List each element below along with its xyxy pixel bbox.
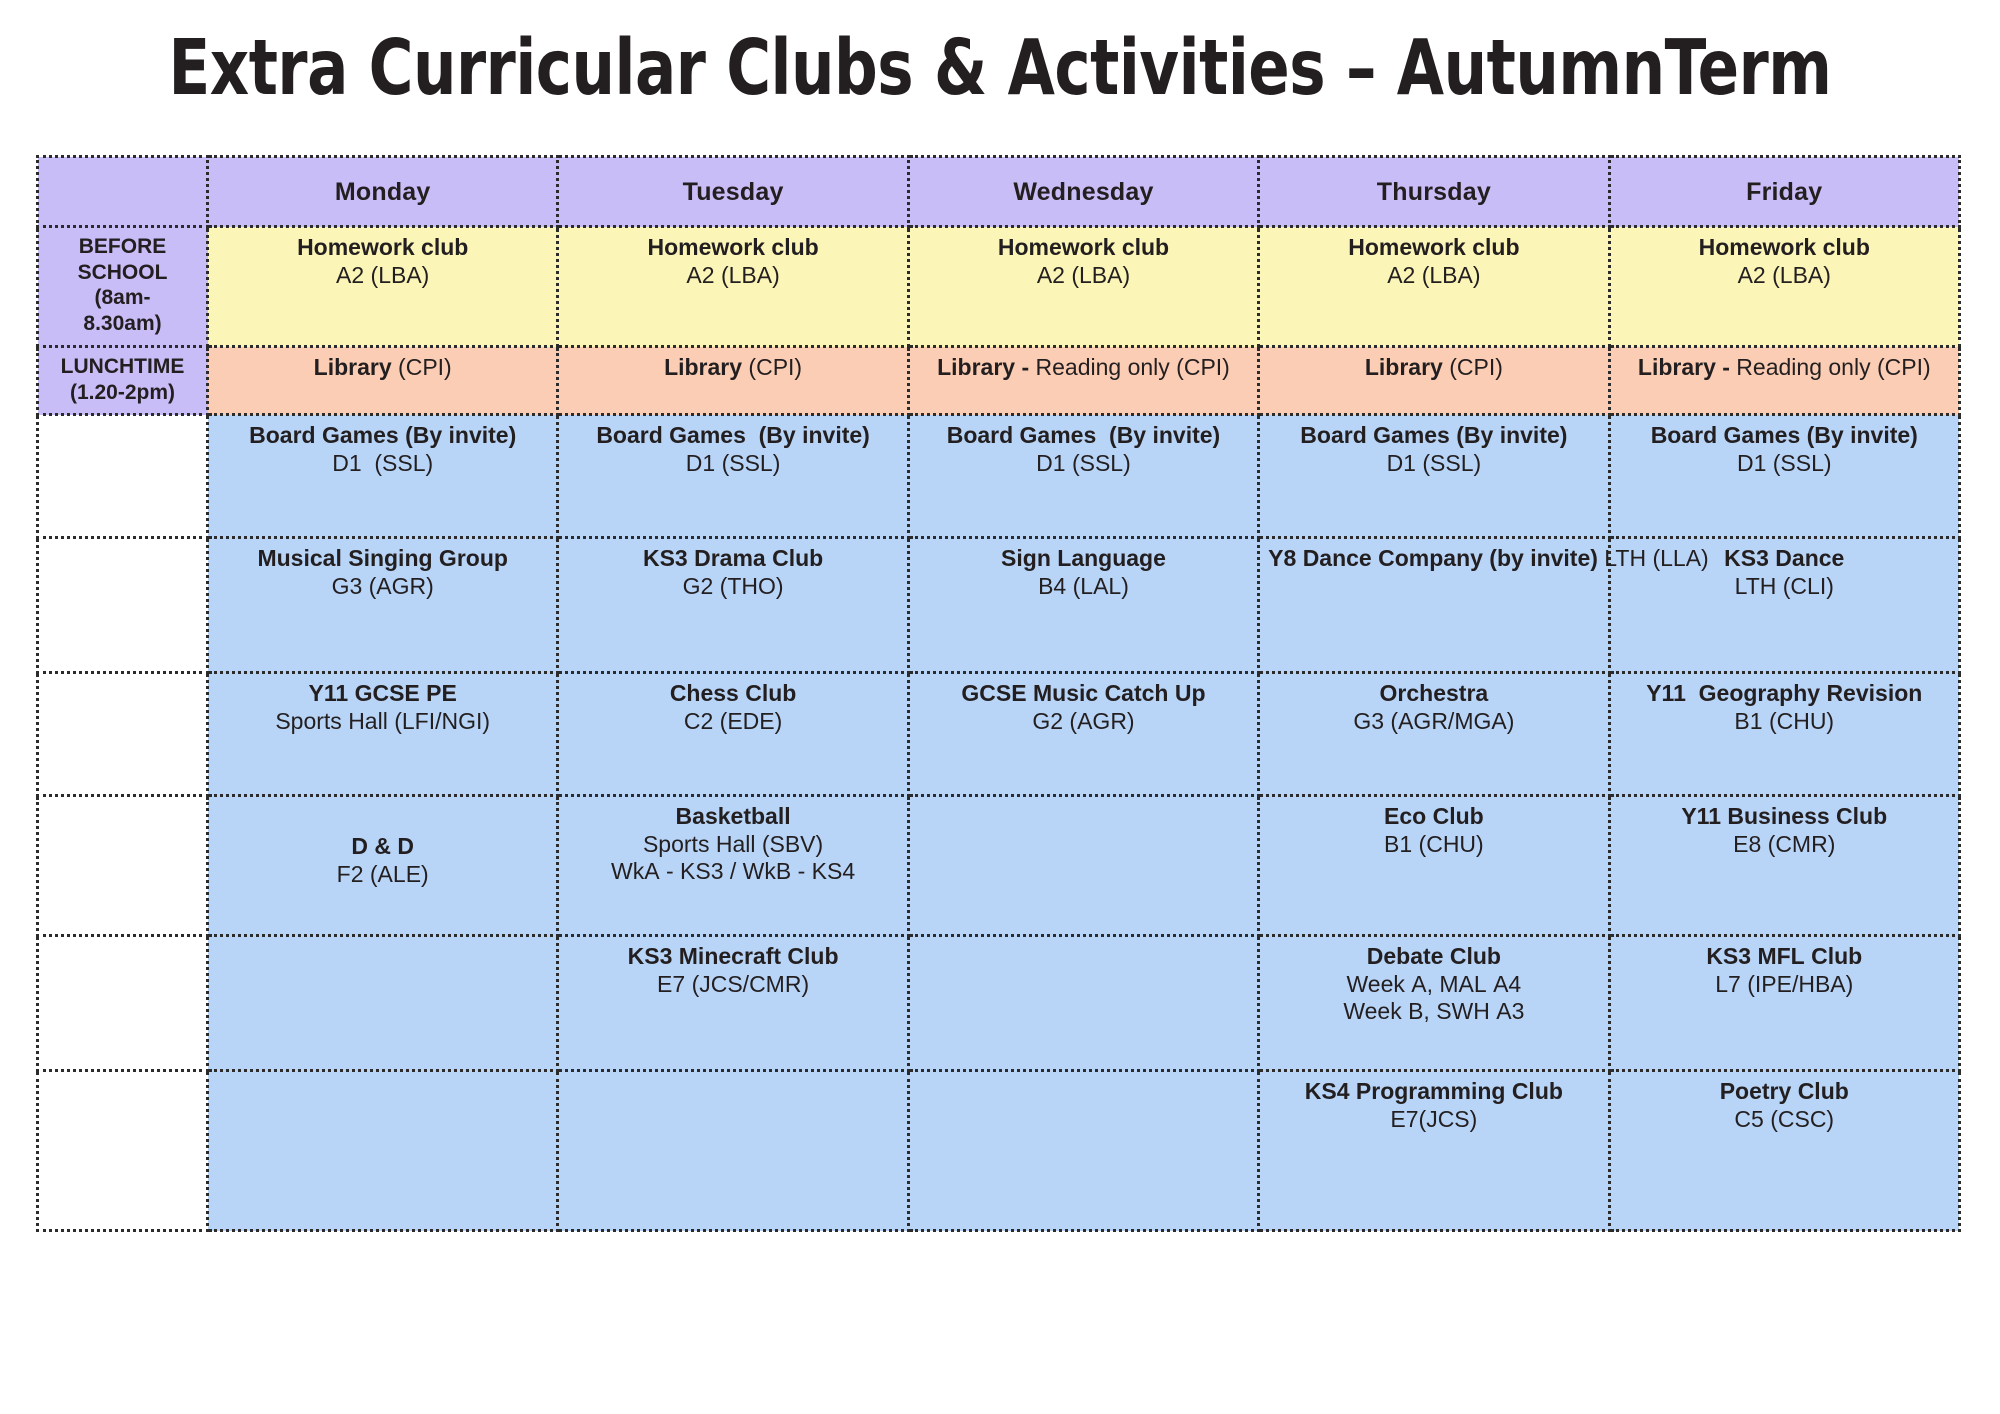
activity-text: Library - Reading only (CPI) — [918, 354, 1249, 382]
page-title: Extra Curricular Clubs & Activities – Au… — [30, 0, 1970, 106]
activity-cell-before-school-friday: Homework clubA2 (LBA) — [1609, 227, 1959, 347]
activity-name: Homework club — [217, 234, 548, 262]
activity-location: D1 (SSL) — [567, 450, 898, 478]
activity-name: Y11 GCSE PE — [217, 680, 548, 708]
day-header-label: Monday — [335, 178, 431, 206]
timetable-row-sports-eco: D & DF2 (ALE)BasketballSports Hall (SBV)… — [38, 796, 1960, 936]
activity-name: Poetry Club — [1619, 1078, 1950, 1106]
timetable-row-programming-poetry: KS4 Programming ClubE7(JCS)Poetry ClubC5… — [38, 1071, 1960, 1231]
activity-location: E7 (JCS/CMR) — [567, 971, 898, 999]
activity-cell-revision-tuesday: Chess ClubC2 (EDE) — [558, 673, 908, 796]
activity-name: Orchestra — [1268, 680, 1599, 708]
activity-cell-sports-eco-thursday: Eco ClubB1 (CHU) — [1259, 796, 1609, 936]
row-label-line: 8.30am) — [47, 311, 198, 337]
activity-cell-lunchtime-thursday: Library (CPI) — [1259, 347, 1609, 415]
activity-cell-performing-wednesday: Sign LanguageB4 (LAL) — [908, 538, 1258, 673]
activity-cell-minecraft-debate-thursday: Debate ClubWeek A, MAL A4Week B, SWH A3 — [1259, 936, 1609, 1071]
activity-location: A2 (LBA) — [1268, 262, 1599, 290]
activity-cell-performing-tuesday: KS3 Drama ClubG2 (THO) — [558, 538, 908, 673]
activity-cell-programming-poetry-friday: Poetry ClubC5 (CSC) — [1609, 1071, 1959, 1231]
day-header-tuesday: Tuesday — [558, 157, 908, 227]
day-header-thursday: Thursday — [1259, 157, 1609, 227]
activity-location: (CPI) — [1443, 354, 1503, 380]
activity-cell-revision-monday: Y11 GCSE PESports Hall (LFI/NGI) — [208, 673, 558, 796]
activity-location: (CPI) — [392, 354, 452, 380]
day-header-label: Tuesday — [683, 178, 784, 206]
activity-location: E8 (CMR) — [1619, 831, 1950, 859]
activity-cell-board-games-monday: Board Games (By invite)D1 (SSL) — [208, 415, 558, 538]
activity-location: Week A, MAL A4 — [1268, 971, 1599, 999]
activity-detail: Week B, SWH A3 — [1268, 998, 1599, 1026]
timetable-body: MondayTuesdayWednesdayThursdayFridayBEFO… — [38, 157, 1960, 1231]
activity-cell-sports-eco-monday: D & DF2 (ALE) — [208, 796, 558, 936]
activity-text: Library (CPI) — [567, 354, 898, 382]
activity-name: KS3 Minecraft Club — [567, 943, 898, 971]
activity-location: C2 (EDE) — [567, 708, 898, 736]
activity-name: Chess Club — [567, 680, 898, 708]
activity-name: Musical Singing Group — [217, 545, 548, 573]
day-header-label: Thursday — [1377, 178, 1491, 206]
row-label-line: (1.20-2pm) — [47, 380, 198, 406]
activity-cell-revision-wednesday: GCSE Music Catch UpG2 (AGR) — [908, 673, 1258, 796]
day-header-label: Wednesday — [1013, 178, 1153, 206]
activity-name: Board Games (By invite) — [217, 422, 548, 450]
activity-name: KS3 Drama Club — [567, 545, 898, 573]
row-label-line: (8am- — [47, 285, 198, 311]
row-label-revision — [38, 673, 208, 796]
activity-cell-minecraft-debate-friday: KS3 MFL ClubL7 (IPE/HBA) — [1609, 936, 1959, 1071]
activity-location: D1 (SSL) — [1268, 450, 1599, 478]
activity-location: E7(JCS) — [1268, 1106, 1599, 1134]
day-header-monday: Monday — [208, 157, 558, 227]
activity-cell-minecraft-debate-monday — [208, 936, 558, 1071]
activity-name: Library - — [1638, 354, 1730, 380]
activity-name: Library — [314, 354, 392, 380]
activity-name: Homework club — [918, 234, 1249, 262]
activity-location: D1 (SSL) — [1619, 450, 1950, 478]
activity-location: Reading only (CPI) — [1730, 354, 1931, 380]
clubs-timetable: MondayTuesdayWednesdayThursdayFridayBEFO… — [36, 155, 1961, 1232]
timetable-row-lunchtime: LUNCHTIME(1.20-2pm)Library (CPI)Library … — [38, 347, 1960, 415]
row-label-programming-poetry — [38, 1071, 208, 1231]
activity-cell-before-school-thursday: Homework clubA2 (LBA) — [1259, 227, 1609, 347]
activity-cell-minecraft-debate-tuesday: KS3 Minecraft ClubE7 (JCS/CMR) — [558, 936, 908, 1071]
timetable-row-revision: Y11 GCSE PESports Hall (LFI/NGI)Chess Cl… — [38, 673, 1960, 796]
activity-location: B4 (LAL) — [918, 573, 1249, 601]
activity-location: Reading only (CPI) — [1029, 354, 1230, 380]
activity-location: A2 (LBA) — [1619, 262, 1950, 290]
activity-location: G3 (AGR) — [217, 573, 548, 601]
row-label-board-games — [38, 415, 208, 538]
activity-cell-minecraft-debate-wednesday — [908, 936, 1258, 1071]
activity-location: A2 (LBA) — [567, 262, 898, 290]
activity-cell-sports-eco-tuesday: BasketballSports Hall (SBV)WkA - KS3 / W… — [558, 796, 908, 936]
activity-cell-sports-eco-friday: Y11 Business ClubE8 (CMR) — [1609, 796, 1959, 936]
activity-cell-lunchtime-tuesday: Library (CPI) — [558, 347, 908, 415]
timetable-header-row: MondayTuesdayWednesdayThursdayFriday — [38, 157, 1960, 227]
activity-cell-programming-poetry-monday — [208, 1071, 558, 1231]
activity-location: A2 (LBA) — [918, 262, 1249, 290]
activity-cell-board-games-friday: Board Games (By invite)D1 (SSL) — [1609, 415, 1959, 538]
row-label-minecraft-debate — [38, 936, 208, 1071]
day-header-label: Friday — [1746, 178, 1822, 206]
activity-name: Y11 Business Club — [1619, 803, 1950, 831]
timetable-page: Extra Curricular Clubs & Activities – Au… — [0, 0, 2000, 1414]
activity-location: L7 (IPE/HBA) — [1619, 971, 1950, 999]
activity-name: Basketball — [567, 803, 898, 831]
row-label-line: SCHOOL — [47, 260, 198, 286]
activity-cell-revision-thursday: OrchestraG3 (AGR/MGA) — [1259, 673, 1609, 796]
activity-location: F2 (ALE) — [217, 861, 548, 889]
activity-location: A2 (LBA) — [217, 262, 548, 290]
activity-name: Library — [1365, 354, 1443, 380]
activity-location: B1 (CHU) — [1268, 831, 1599, 859]
day-header-wednesday: Wednesday — [908, 157, 1258, 227]
row-label-line: BEFORE — [47, 234, 198, 260]
activity-location: Sports Hall (SBV) — [567, 831, 898, 859]
activity-location: (CPI) — [742, 354, 802, 380]
timetable-row-before-school: BEFORESCHOOL(8am-8.30am)Homework clubA2 … — [38, 227, 1960, 347]
activity-name: KS4 Programming Club — [1268, 1078, 1599, 1106]
activity-location: LTH (LLA) — [1598, 545, 1709, 571]
activity-name: Sign Language — [918, 545, 1249, 573]
activity-location: D1 (SSL) — [918, 450, 1249, 478]
activity-name: KS3 MFL Club — [1619, 943, 1950, 971]
activity-detail: WkA - KS3 / WkB - KS4 — [567, 858, 898, 886]
activity-location: G3 (AGR/MGA) — [1268, 708, 1599, 736]
activity-name: Library — [664, 354, 742, 380]
activity-text: Library (CPI) — [217, 354, 548, 382]
row-label-performing — [38, 538, 208, 673]
activity-cell-lunchtime-monday: Library (CPI) — [208, 347, 558, 415]
activity-name: Y8 Dance Company (by invite) — [1268, 545, 1598, 571]
activity-cell-sports-eco-wednesday — [908, 796, 1258, 936]
activity-cell-before-school-monday: Homework clubA2 (LBA) — [208, 227, 558, 347]
activity-location: G2 (AGR) — [918, 708, 1249, 736]
corner-cell — [38, 157, 208, 227]
activity-text: Library (CPI) — [1268, 354, 1599, 382]
row-label-before-school: BEFORESCHOOL(8am-8.30am) — [38, 227, 208, 347]
activity-cell-programming-poetry-tuesday — [558, 1071, 908, 1231]
row-label-line: LUNCHTIME — [47, 354, 198, 380]
activity-cell-before-school-tuesday: Homework clubA2 (LBA) — [558, 227, 908, 347]
activity-location: C5 (CSC) — [1619, 1106, 1950, 1134]
activity-cell-programming-poetry-thursday: KS4 Programming ClubE7(JCS) — [1259, 1071, 1609, 1231]
activity-name: Board Games (By invite) — [918, 422, 1249, 450]
activity-cell-board-games-wednesday: Board Games (By invite)D1 (SSL) — [908, 415, 1258, 538]
activity-cell-lunchtime-wednesday: Library - Reading only (CPI) — [908, 347, 1258, 415]
row-label-sports-eco — [38, 796, 208, 936]
activity-cell-board-games-tuesday: Board Games (By invite)D1 (SSL) — [558, 415, 908, 538]
activity-cell-performing-monday: Musical Singing GroupG3 (AGR) — [208, 538, 558, 673]
activity-name: Y11 Geography Revision — [1619, 680, 1950, 708]
activity-name: GCSE Music Catch Up — [918, 680, 1249, 708]
activity-location: D1 (SSL) — [217, 450, 548, 478]
activity-location: Sports Hall (LFI/NGI) — [217, 708, 548, 736]
activity-cell-board-games-thursday: Board Games (By invite)D1 (SSL) — [1259, 415, 1609, 538]
activity-cell-before-school-wednesday: Homework clubA2 (LBA) — [908, 227, 1258, 347]
activity-name: Homework club — [1619, 234, 1950, 262]
timetable-container: MondayTuesdayWednesdayThursdayFridayBEFO… — [36, 155, 1958, 1232]
activity-name: Board Games (By invite) — [1268, 422, 1599, 450]
timetable-row-minecraft-debate: KS3 Minecraft ClubE7 (JCS/CMR)Debate Clu… — [38, 936, 1960, 1071]
activity-location: LTH (CLI) — [1619, 573, 1950, 601]
timetable-row-board-games: Board Games (By invite)D1 (SSL)Board Gam… — [38, 415, 1960, 538]
activity-name: Homework club — [1268, 234, 1599, 262]
activity-name: Board Games (By invite) — [1619, 422, 1950, 450]
activity-name: Homework club — [567, 234, 898, 262]
activity-location: B1 (CHU) — [1619, 708, 1950, 736]
activity-name: Library - — [937, 354, 1029, 380]
activity-name: D & D — [217, 833, 548, 861]
activity-cell-performing-thursday: Y8 Dance Company (by invite) LTH (LLA) — [1259, 538, 1609, 673]
activity-text: Library - Reading only (CPI) — [1619, 354, 1950, 382]
activity-text: Y8 Dance Company (by invite) LTH (LLA) — [1268, 545, 1599, 573]
row-label-lunchtime: LUNCHTIME(1.20-2pm) — [38, 347, 208, 415]
activity-cell-programming-poetry-wednesday — [908, 1071, 1258, 1231]
activity-location: G2 (THO) — [567, 573, 898, 601]
activity-spacer — [217, 803, 548, 833]
activity-name: Debate Club — [1268, 943, 1599, 971]
activity-cell-lunchtime-friday: Library - Reading only (CPI) — [1609, 347, 1959, 415]
timetable-row-performing: Musical Singing GroupG3 (AGR)KS3 Drama C… — [38, 538, 1960, 673]
activity-cell-revision-friday: Y11 Geography RevisionB1 (CHU) — [1609, 673, 1959, 796]
day-header-friday: Friday — [1609, 157, 1959, 227]
activity-name: Eco Club — [1268, 803, 1599, 831]
activity-name: Board Games (By invite) — [567, 422, 898, 450]
